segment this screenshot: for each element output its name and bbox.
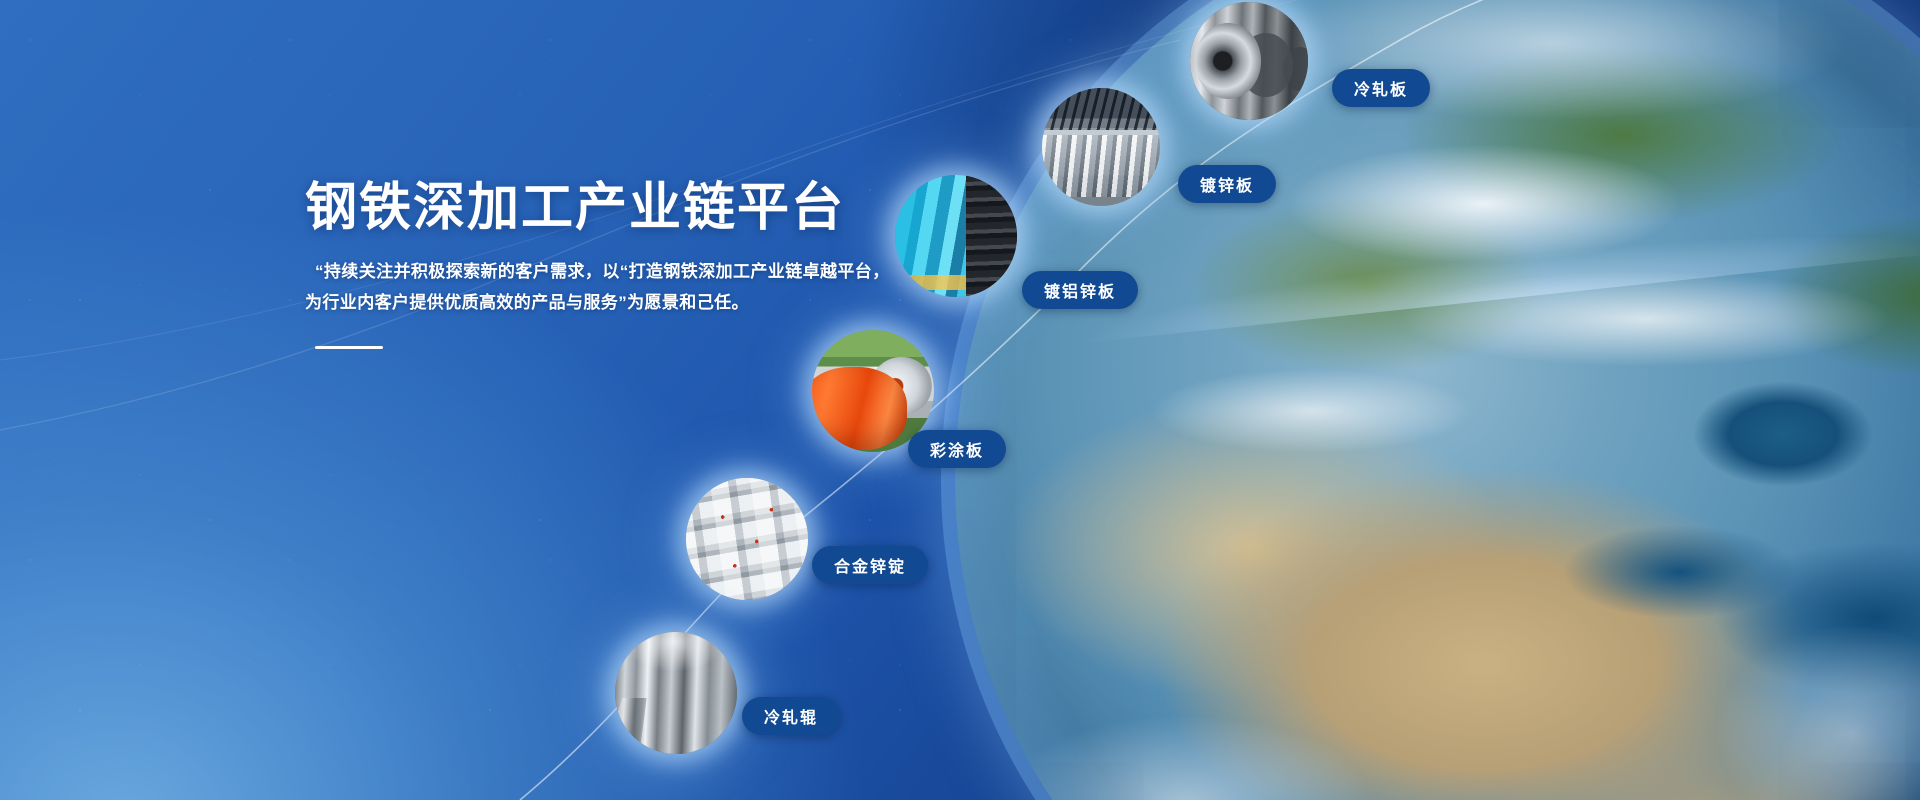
starfield-layer-1 xyxy=(0,0,1920,800)
galvanized-warehouse-icon[interactable] xyxy=(1042,88,1160,206)
steel-coil-icon[interactable] xyxy=(1190,2,1308,120)
starfield-layer-3 xyxy=(0,0,1920,800)
hero-subtitle-line-2: 为行业内客户提供优质高效的产品与服务”为愿景和己任。 xyxy=(305,288,925,318)
starfield-layer-2 xyxy=(0,0,1920,800)
headline-divider-rule xyxy=(315,346,383,349)
product-label-duxinban[interactable]: 镀锌板 xyxy=(1178,165,1276,203)
product-label-hejinxinding[interactable]: 合金锌锭 xyxy=(812,546,928,584)
hero-subtitle: “持续关注并积极探索新的客户需求，以“打造钢铁深加工产业链卓越平台， 为行业内客… xyxy=(305,257,925,318)
hero-copy-block: 钢铁深加工产业链平台 “持续关注并积极探索新的客户需求，以“打造钢铁深加工产业链… xyxy=(305,178,925,349)
product-label-lengzhagun[interactable]: 冷轧辊 xyxy=(742,697,840,735)
product-label-caituban[interactable]: 彩涂板 xyxy=(908,430,1006,468)
zinc-ingot-icon[interactable] xyxy=(686,478,808,600)
product-chain-arc-line xyxy=(0,0,1920,800)
galvalume-coil-icon[interactable] xyxy=(895,175,1017,297)
product-label-lengzhaban[interactable]: 冷轧板 xyxy=(1332,69,1430,107)
hero-banner: 钢铁深加工产业链平台 “持续关注并积极探索新的客户需求，以“打造钢铁深加工产业链… xyxy=(0,0,1920,800)
page-title: 钢铁深加工产业链平台 xyxy=(305,178,925,239)
rolling-roll-icon[interactable] xyxy=(615,632,737,754)
hero-subtitle-line-1: “持续关注并积极探索新的客户需求，以“打造钢铁深加工产业链卓越平台， xyxy=(305,257,925,287)
product-label-dulvxinban[interactable]: 镀铝锌板 xyxy=(1022,271,1138,309)
